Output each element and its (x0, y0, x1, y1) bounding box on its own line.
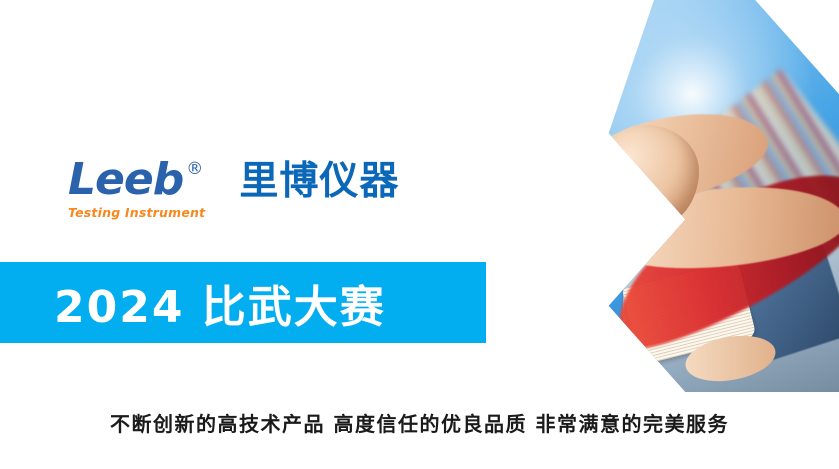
registered-trademark-icon: ® (186, 159, 203, 179)
finger-icon (611, 210, 625, 218)
tagline: 不断创新的高技术产品 高度信任的优良品质 非常满意的完美服务 (0, 408, 839, 437)
logo-subtitle: Testing Instrument (68, 205, 205, 220)
finger-icon (605, 195, 619, 203)
hero-graphic: 合作 开拓 责任 (490, 0, 839, 392)
headline-text: 2024 比武大赛 (54, 271, 386, 335)
company-name-cn: 里博仪器 (239, 162, 399, 201)
clasped-hands (595, 125, 700, 227)
finger-icon (601, 181, 616, 190)
brand-logo: Leeb® Testing Instrument 里博仪器 (68, 158, 399, 220)
logo-mark: Leeb® Testing Instrument (68, 158, 205, 220)
poster-canvas: 合作 开拓 责任 Leeb® Testing Instrument 里博仪器 2… (0, 0, 839, 469)
logo-wordmark-row: Leeb® (68, 158, 205, 202)
photo-collage (490, 0, 839, 392)
headline-banner: 2024 比武大赛 (0, 262, 486, 343)
logo-wordmark: Leeb (68, 158, 183, 202)
